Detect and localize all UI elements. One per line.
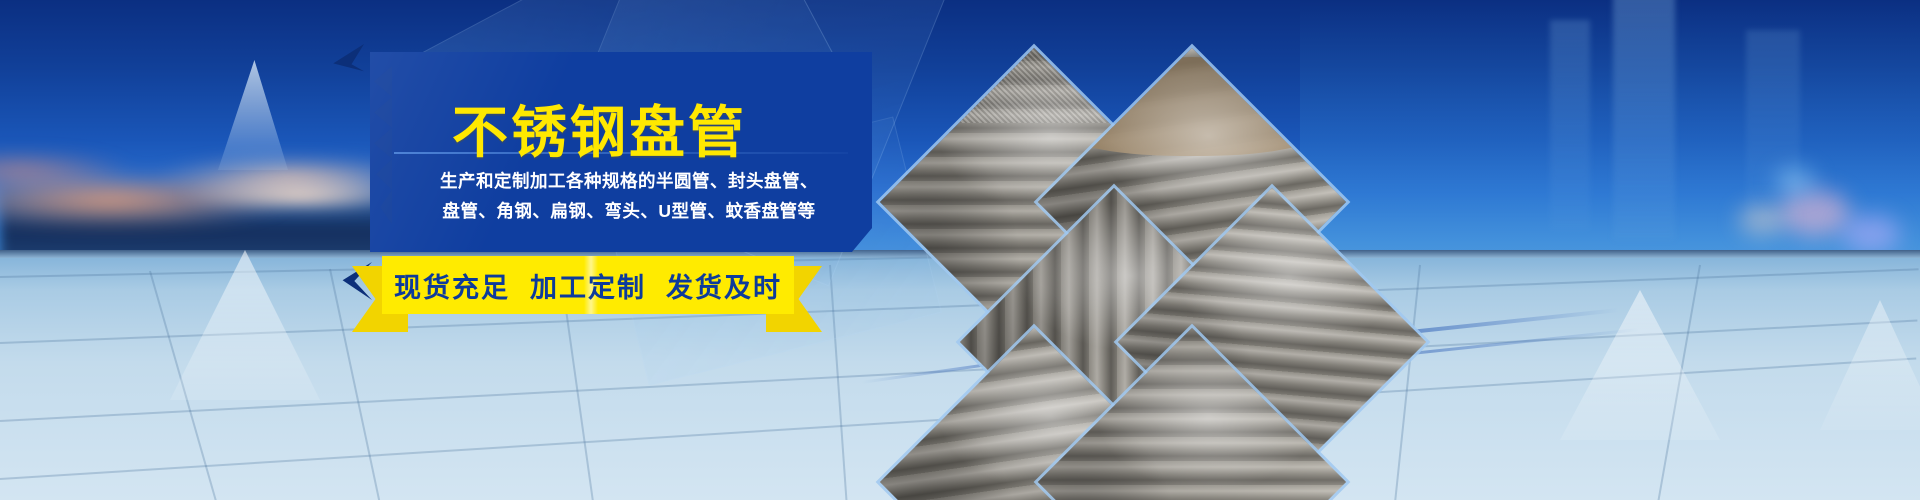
page-title: 不锈钢盘管	[452, 88, 747, 169]
page-subtitle: 生产和定制加工各种规格的半圆管、封头盘管、 盘管、角钢、扁钢、弯头、U型管、蚊香…	[414, 166, 844, 226]
ribbon-text-group: 现货充足 加工定制 发货及时	[382, 256, 794, 314]
ribbon-item-1: 加工定制	[530, 266, 646, 305]
ribbon-item-2: 发货及时	[666, 266, 782, 305]
product-image-collage	[830, 0, 1450, 500]
bokeh-light-2	[1842, 215, 1900, 253]
headline-panel: 不锈钢盘管 生产和定制加工各种规格的半圆管、封头盘管、 盘管、角钢、扁钢、弯头、…	[352, 52, 872, 252]
subtitle-line-2: 盘管、角钢、扁钢、弯头、U型管、蚊香盘管等	[414, 196, 844, 226]
bokeh-light-3	[1739, 205, 1785, 235]
bokeh-light-1	[1780, 190, 1850, 236]
feature-ribbon: 现货充足 加工定制 发货及时	[352, 256, 822, 330]
promo-banner: 不锈钢盘管 生产和定制加工各种规格的半圆管、封头盘管、 盘管、角钢、扁钢、弯头、…	[0, 0, 1920, 500]
bokeh-light-4	[1775, 168, 1815, 194]
skyscraper-1	[1613, 0, 1675, 240]
ribbon-item-0: 现货充足	[394, 266, 510, 305]
skyscraper-2	[1550, 20, 1590, 230]
subtitle-line-1: 生产和定制加工各种规格的半圆管、封头盘管、	[414, 166, 844, 196]
